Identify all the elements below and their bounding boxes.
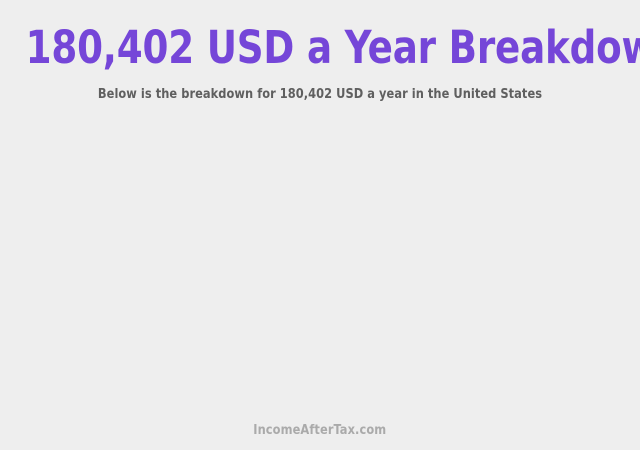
breakdown-content-area <box>0 112 640 412</box>
page-title: 180,402 USD a Year Breakdown <box>26 23 615 73</box>
page-subtitle: Below is the breakdown for 180,402 USD a… <box>19 86 621 103</box>
page-root: 180,402 USD a Year Breakdown Below is th… <box>0 0 640 450</box>
footer-brand-label: IncomeAfterTax.com <box>253 422 386 439</box>
page-footer: IncomeAfterTax.com <box>0 421 640 439</box>
